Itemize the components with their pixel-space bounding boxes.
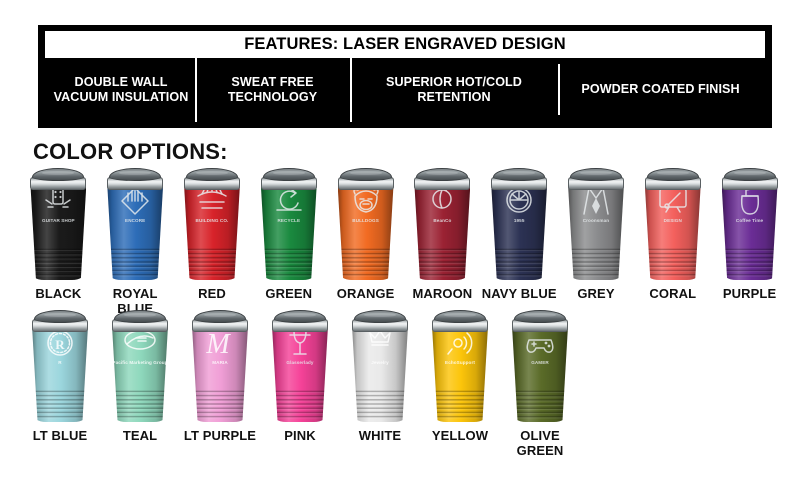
- tumbler-grip-ribs: [568, 247, 624, 277]
- tumbler-image: RR: [32, 310, 88, 422]
- feature-item-superior-hot-cold-retention: SUPERIOR HOT/COLD RETENTION: [350, 75, 558, 105]
- color-option-maroon[interactable]: BeanCoMAROON: [404, 168, 481, 316]
- color-option-label: YELLOW: [432, 429, 488, 444]
- engraved-logo-text: EchoSupport: [445, 360, 475, 365]
- tumbler-grip-ribs: [722, 247, 778, 277]
- tumbler-lid-top: [647, 168, 699, 181]
- color-option-label: WHITE: [359, 429, 401, 444]
- color-option-lt-purple[interactable]: MMARIALT PURPLE: [180, 310, 260, 458]
- engraved-logo-text: Coffee Time: [736, 218, 763, 223]
- engraved-logo-text: RECYCLE: [277, 218, 300, 223]
- feature-item-sweat-free-technology: SWEAT FREE TECHNOLOGY: [195, 75, 350, 105]
- tumbler-lid-top: [493, 168, 545, 181]
- tumbler-image: ENCORE: [107, 168, 163, 280]
- tumbler-image: 1955: [491, 168, 547, 280]
- color-option-label: ORANGE: [337, 287, 395, 302]
- tumbler-lid-top: [34, 310, 86, 323]
- tumbler-image: Jewelry: [352, 310, 408, 422]
- engraved-logo-text: BeanCo: [433, 218, 451, 223]
- color-option-label: GREY: [577, 287, 614, 302]
- tumbler-image: GAMER: [512, 310, 568, 422]
- features-column-list: DOUBLE WALL VACUUM INSULATION SWEAT FREE…: [45, 58, 765, 123]
- tumbler-image: Croonsman: [568, 168, 624, 280]
- engraved-logo-text: Glasserlady: [286, 360, 313, 365]
- color-option-label: OLIVE GREEN: [517, 429, 564, 458]
- color-option-red[interactable]: BUILDING CO.RED: [174, 168, 251, 316]
- color-option-olive-green[interactable]: GAMEROLIVE GREEN: [500, 310, 580, 458]
- color-option-label: TEAL: [123, 429, 157, 444]
- color-option-label: PINK: [284, 429, 315, 444]
- engraved-logo-text: 1955: [514, 218, 525, 223]
- tumbler-lid-top: [340, 168, 392, 181]
- tumbler-lid-top: [434, 310, 486, 323]
- color-option-label: NAVY BLUE: [482, 287, 557, 302]
- tumbler-lid-top: [354, 310, 406, 323]
- tumbler-image: EchoSupport: [432, 310, 488, 422]
- color-option-black[interactable]: GUITAR SHOPBLACK: [20, 168, 97, 316]
- engraved-logo-text: BUILDING CO.: [196, 218, 229, 223]
- color-option-green[interactable]: RECYCLEGREEN: [250, 168, 327, 316]
- color-option-purple[interactable]: Coffee TimePURPLE: [711, 168, 788, 316]
- engraved-logo-text: Croonsman: [583, 218, 609, 223]
- color-option-orange[interactable]: BULLDOGSORANGE: [327, 168, 404, 316]
- tumbler-grip-ribs: [338, 247, 394, 277]
- tumbler-grip-ribs: [107, 247, 163, 277]
- tumbler-grip-ribs: [261, 247, 317, 277]
- tumbler-image: BULLDOGS: [338, 168, 394, 280]
- color-option-coral[interactable]: DESIGNCORAL: [634, 168, 711, 316]
- tumbler-grip-ribs: [192, 389, 248, 419]
- tumbler-lid-top: [274, 310, 326, 323]
- engraved-logo-text: DESIGN: [664, 218, 682, 223]
- engraved-logo-text: MARIA: [212, 360, 228, 365]
- color-option-yellow[interactable]: EchoSupportYELLOW: [420, 310, 500, 458]
- tumbler-image: Pacific Marketing Group: [112, 310, 168, 422]
- color-option-royal-blue[interactable]: ENCOREROYAL BLUE: [97, 168, 174, 316]
- engraved-logo-text: GUITAR SHOP: [42, 218, 75, 223]
- color-option-label: LT PURPLE: [184, 429, 256, 444]
- color-swatch-row-1: GUITAR SHOPBLACKENCOREROYAL BLUEBUILDING…: [20, 168, 788, 316]
- tumbler-lid-top: [416, 168, 468, 181]
- tumbler-grip-ribs: [30, 247, 86, 277]
- tumbler-image: MMARIA: [192, 310, 248, 422]
- tumbler-image: BUILDING CO.: [184, 168, 240, 280]
- color-option-label: PURPLE: [723, 287, 776, 302]
- tumbler-grip-ribs: [272, 389, 328, 419]
- color-options-heading: COLOR OPTIONS:: [33, 139, 228, 165]
- color-option-label: MAROON: [412, 287, 472, 302]
- tumbler-grip-ribs: [184, 247, 240, 277]
- color-option-label: CORAL: [649, 287, 696, 302]
- color-swatch-row-2: RRLT BLUEPacific Marketing GroupTEALMMAR…: [20, 310, 580, 458]
- svg-text:R: R: [55, 337, 65, 352]
- tumbler-lid-top: [109, 168, 161, 181]
- features-banner-box: FEATURES: LASER ENGRAVED DESIGN DOUBLE W…: [38, 25, 772, 128]
- tumbler-grip-ribs: [32, 389, 88, 419]
- engraved-logo-text: GAMER: [531, 360, 549, 365]
- color-option-grey[interactable]: CroonsmanGREY: [558, 168, 635, 316]
- color-option-lt-blue[interactable]: RRLT BLUE: [20, 310, 100, 458]
- product-color-options-page: FEATURES: LASER ENGRAVED DESIGN DOUBLE W…: [0, 0, 800, 485]
- color-option-teal[interactable]: Pacific Marketing GroupTEAL: [100, 310, 180, 458]
- color-option-label: BLACK: [35, 287, 81, 302]
- engraved-logo-text: ENCORE: [125, 218, 145, 223]
- feature-item-powder-coated-finish: POWDER COATED FINISH: [558, 82, 763, 97]
- engraved-logo-text: Pacific Marketing Group: [112, 360, 167, 365]
- feature-item-double-wall-vacuum-insulation: DOUBLE WALL VACUUM INSULATION: [47, 75, 195, 105]
- tumbler-lid-top: [186, 168, 238, 181]
- color-option-label: LT BLUE: [33, 429, 88, 444]
- engraved-logo-text: Jewelry: [371, 360, 389, 365]
- tumbler-lid-top: [514, 310, 566, 323]
- tumbler-grip-ribs: [491, 247, 547, 277]
- color-option-white[interactable]: JewelryWHITE: [340, 310, 420, 458]
- tumbler-lid-top: [570, 168, 622, 181]
- engraved-logo-text: BULLDOGS: [352, 218, 379, 223]
- tumbler-grip-ribs: [432, 389, 488, 419]
- tumbler-image: RECYCLE: [261, 168, 317, 280]
- tumbler-image: DESIGN: [645, 168, 701, 280]
- color-option-label: RED: [198, 287, 226, 302]
- tumbler-image: GUITAR SHOP: [30, 168, 86, 280]
- tumbler-image: Coffee Time: [722, 168, 778, 280]
- tumbler-grip-ribs: [352, 389, 408, 419]
- tumbler-lid-top: [263, 168, 315, 181]
- tumbler-lid-top: [724, 168, 776, 181]
- tumbler-grip-ribs: [645, 247, 701, 277]
- tumbler-image: Glasserlady: [272, 310, 328, 422]
- tumbler-grip-ribs: [112, 389, 168, 419]
- engraved-logo-text: R: [58, 360, 61, 365]
- features-headline-text: FEATURES: LASER ENGRAVED DESIGN: [244, 35, 566, 54]
- features-headline-banner: FEATURES: LASER ENGRAVED DESIGN: [45, 31, 765, 58]
- tumbler-lid-top: [194, 310, 246, 323]
- color-option-pink[interactable]: GlasserladyPINK: [260, 310, 340, 458]
- tumbler-lid-top: [32, 168, 84, 181]
- tumbler-grip-ribs: [512, 389, 568, 419]
- color-option-navy-blue[interactable]: 1955NAVY BLUE: [481, 168, 558, 316]
- color-option-label: GREEN: [265, 287, 312, 302]
- tumbler-image: BeanCo: [414, 168, 470, 280]
- svg-text:M: M: [205, 329, 231, 360]
- tumbler-grip-ribs: [414, 247, 470, 277]
- tumbler-lid-top: [114, 310, 166, 323]
